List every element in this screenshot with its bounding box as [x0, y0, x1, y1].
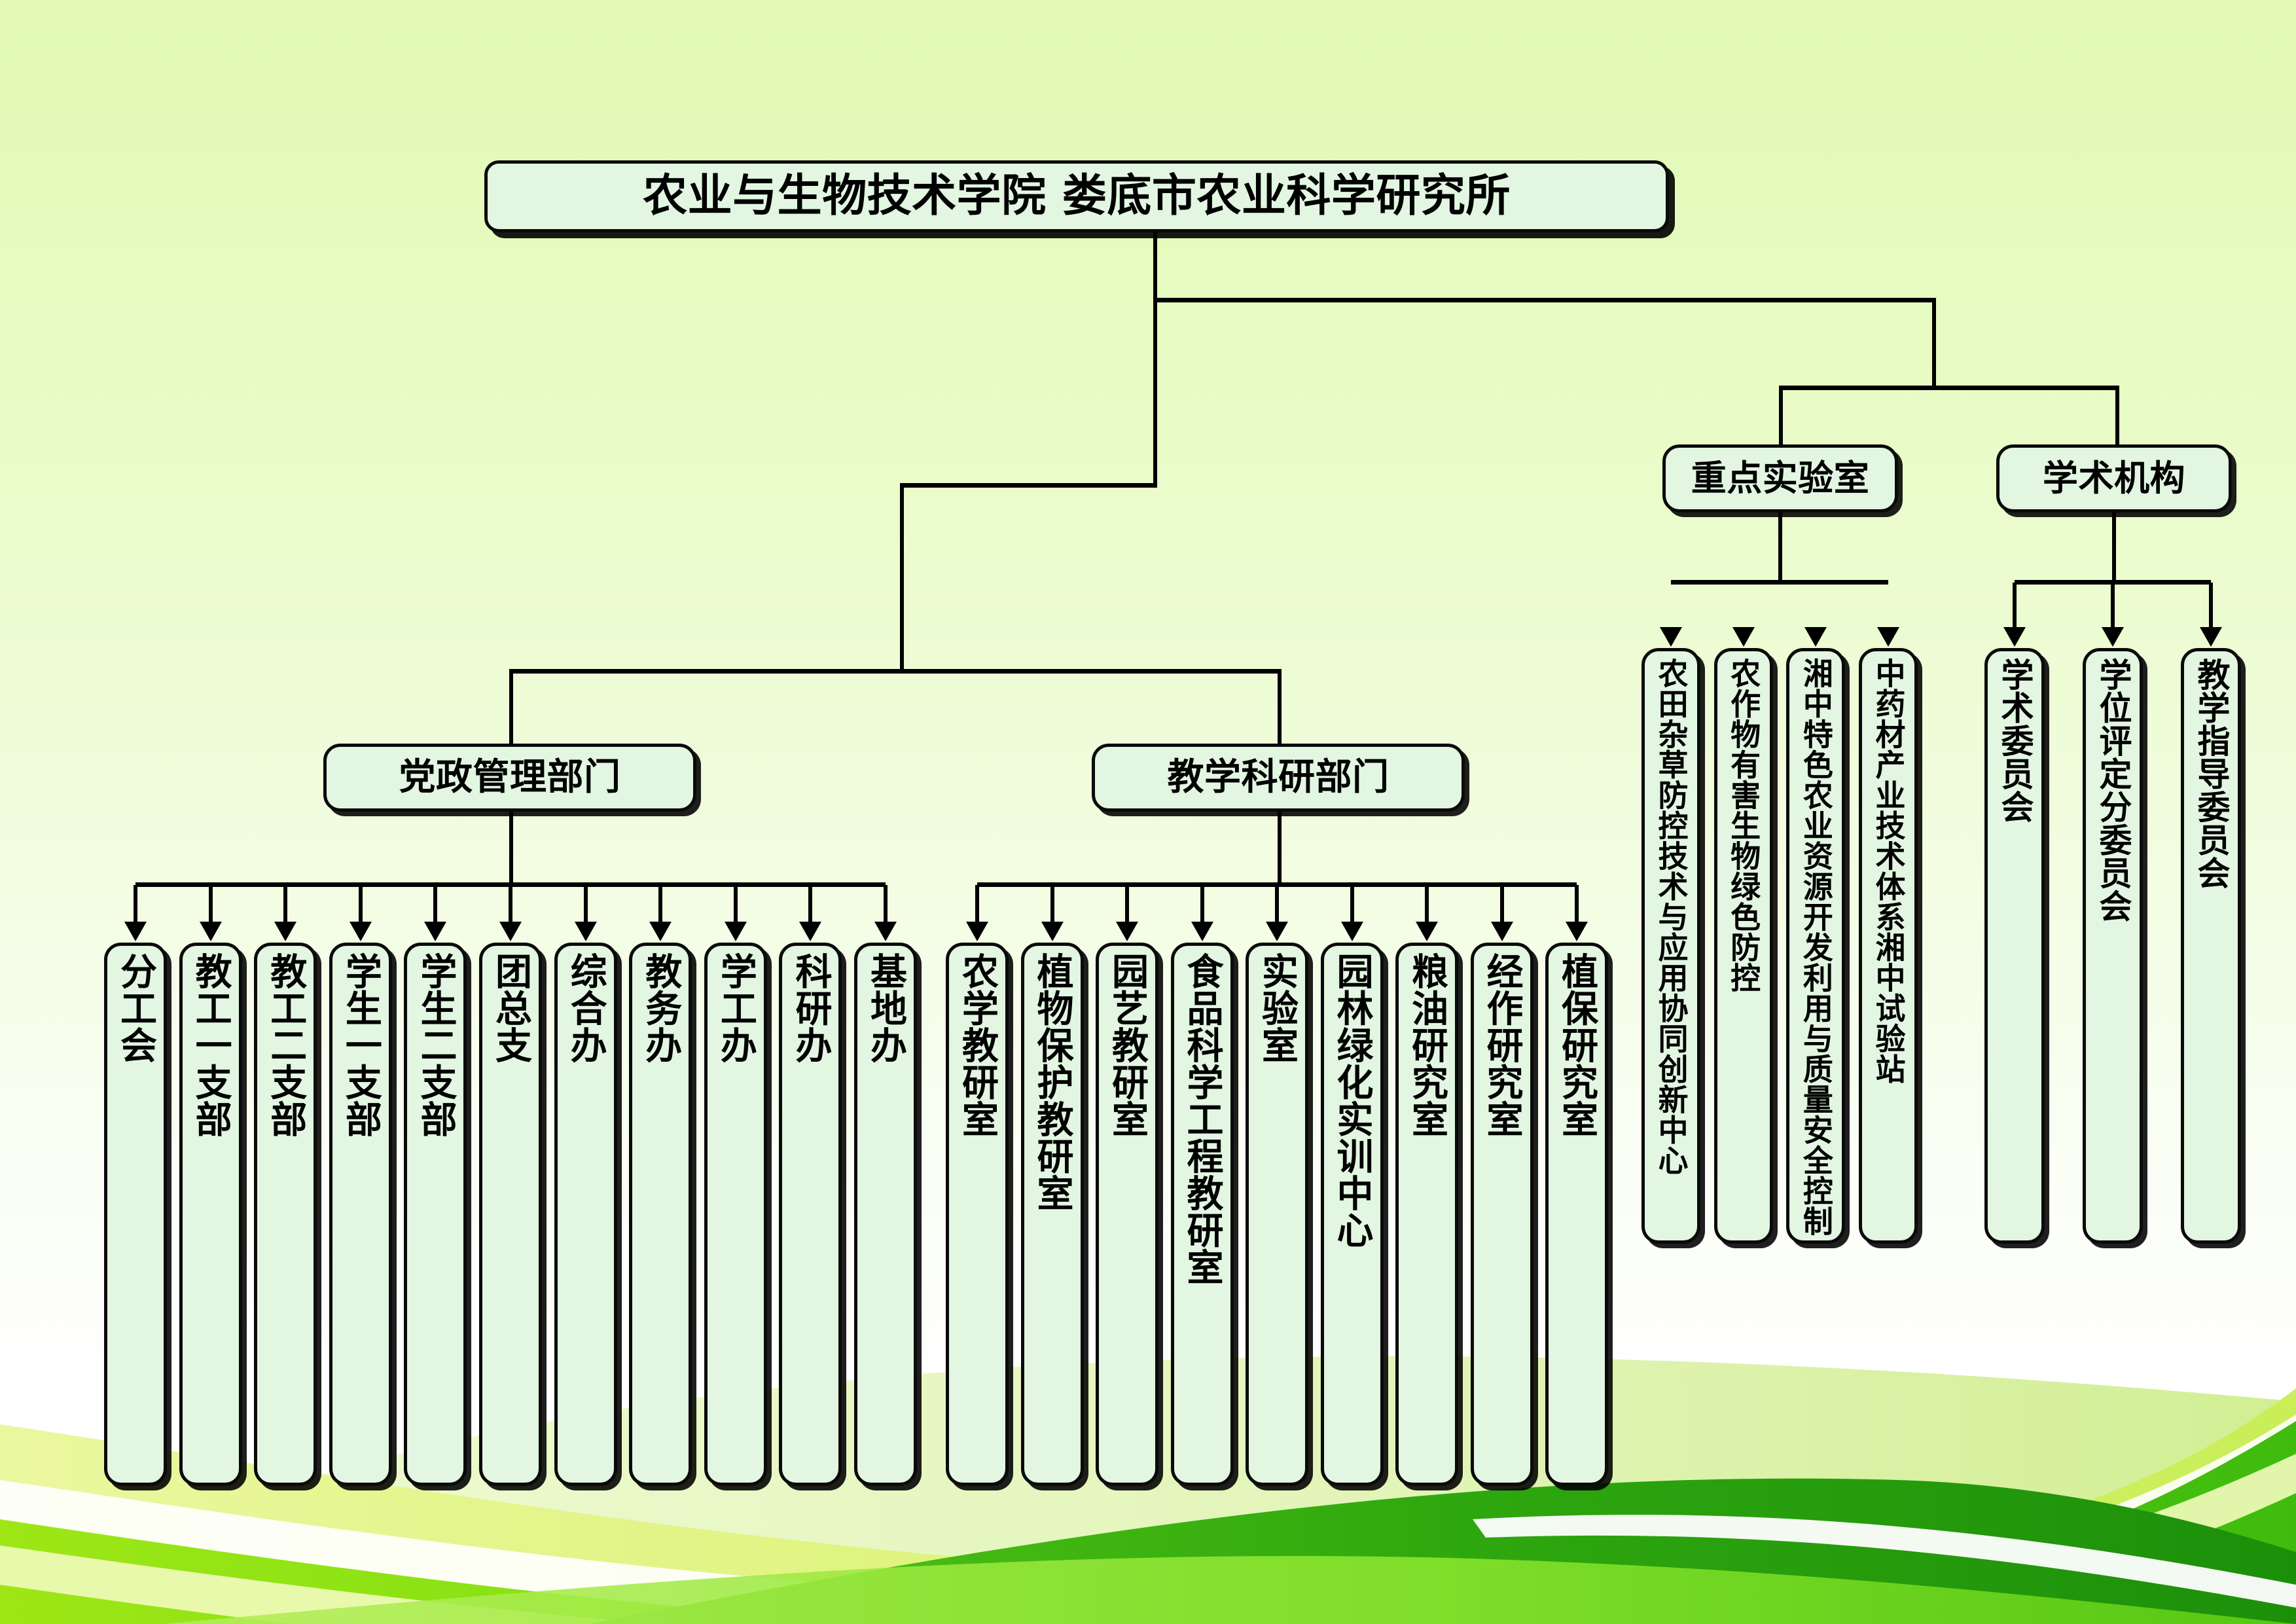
connector-drop-party-1	[209, 885, 213, 923]
connector-drop-teaching-8	[1575, 885, 1579, 923]
connector-drop-teaching-7	[1500, 885, 1504, 923]
arrow-icon-party-8	[725, 922, 747, 941]
connector-drop-teaching-3	[1200, 885, 1204, 923]
leaf-node-party-6[interactable]: 综合办	[554, 943, 617, 1486]
leaf-node-label: 学生一支部	[342, 952, 379, 1138]
arrow-icon-keylab-1	[1732, 627, 1755, 647]
leaf-node-teaching-4[interactable]: 实验室	[1246, 943, 1308, 1486]
arrow-icon-keylab-3	[1877, 627, 1899, 647]
arrow-icon-teaching-5	[1341, 922, 1363, 941]
connector-academic-drop	[2115, 386, 2119, 444]
leaf-node-party-9[interactable]: 科研办	[779, 943, 842, 1486]
leaf-node-label: 食品科学工程教研室	[1183, 952, 1221, 1286]
arrow-icon-academic-0	[2003, 627, 2026, 647]
connector-trunk-jog	[900, 483, 1157, 488]
connector-root-bus-right	[1153, 298, 1936, 302]
arrow-icon-party-5	[499, 922, 522, 941]
connector-drop-teaching-4	[1275, 885, 1279, 923]
leaf-node-label: 学工办	[717, 952, 754, 1064]
leaf-node-label: 教务办	[642, 952, 679, 1064]
connector-drop-party-5	[509, 885, 512, 923]
leaf-node-label: 实验室	[1258, 952, 1295, 1064]
connector-drop-party-0	[134, 885, 137, 923]
connector-drop-academic-1	[2111, 583, 2115, 628]
leaf-node-party-4[interactable]: 学生二支部	[404, 943, 467, 1486]
leaf-node-academic-1[interactable]: 学位评定分委员会	[2083, 648, 2143, 1244]
leaf-node-teaching-8[interactable]: 植保研究室	[1545, 943, 1608, 1486]
connector-mid-bus	[509, 669, 1282, 674]
group-label-teaching-research: 教学科研部门	[1168, 759, 1390, 796]
arrow-icon-teaching-7	[1491, 922, 1513, 941]
connector-root-trunk	[1153, 232, 1157, 301]
arrow-icon-party-3	[350, 922, 372, 941]
leaf-node-party-2[interactable]: 教工二支部	[254, 943, 317, 1486]
arrow-icon-teaching-1	[1041, 922, 1064, 941]
leaf-node-teaching-7[interactable]: 经作研究室	[1471, 943, 1534, 1486]
connector-trunk-mid	[900, 483, 904, 673]
connector-drop-party-8	[734, 885, 738, 923]
leaf-node-teaching-3[interactable]: 食品科学工程教研室	[1171, 943, 1234, 1486]
group-node-party-admin[interactable]: 党政管理部门	[323, 744, 696, 812]
leaf-node-keylab-3[interactable]: 中药材产业技术体系湘中试验站	[1859, 648, 1918, 1244]
connector-drop-academic-0	[2013, 583, 2017, 628]
leaf-node-party-5[interactable]: 团总支	[479, 943, 542, 1486]
arrow-icon-party-6	[575, 922, 597, 941]
leaf-node-label: 团总支	[492, 952, 529, 1064]
arrow-icon-keylab-2	[1804, 627, 1827, 647]
leaf-node-label: 经作研究室	[1483, 952, 1520, 1138]
connector-drop-party-6	[584, 885, 588, 923]
connector-drop-teaching-6	[1425, 885, 1429, 923]
leaf-node-teaching-6[interactable]: 粮油研究室	[1395, 943, 1458, 1486]
arrow-icon-teaching-2	[1116, 922, 1138, 941]
connector-keylab-drop	[1779, 386, 1783, 444]
leaf-node-label: 农田杂草防控技术与应用协同创新中心	[1656, 658, 1687, 1176]
leaf-node-label: 园林绿化实训中心	[1333, 952, 1371, 1248]
leaf-node-label: 农学教研室	[958, 952, 996, 1138]
leaf-node-label: 综合办	[567, 952, 604, 1064]
connector-keylab-stem	[1778, 513, 1782, 583]
connector-drop-party-3	[359, 885, 363, 923]
arrow-icon-party-9	[799, 922, 821, 941]
connector-drop-party-2	[283, 885, 287, 923]
arrow-icon-teaching-8	[1566, 922, 1588, 941]
leaf-node-party-0[interactable]: 分工会	[104, 943, 167, 1486]
connector-academic-stem	[2112, 513, 2116, 583]
connector-drop-party-7	[658, 885, 662, 923]
connector-drop-party-9	[808, 885, 812, 923]
leaf-node-label: 中药材产业技术体系湘中试验站	[1873, 658, 1904, 1084]
leaf-node-teaching-5[interactable]: 园林绿化实训中心	[1321, 943, 1384, 1486]
arrow-icon-teaching-4	[1266, 922, 1288, 941]
leaf-node-keylab-2[interactable]: 湘中特色农业资源开发利用与质量安全控制	[1786, 648, 1845, 1244]
connector-drop-teaching-5	[1350, 885, 1354, 923]
group-node-academic[interactable]: 学术机构	[1996, 444, 2232, 513]
leaf-node-label: 农作物有害生物绿色防控	[1728, 658, 1759, 993]
connector-drop-teaching-1	[1050, 885, 1054, 923]
connector-teaching-stem	[1278, 812, 1282, 886]
arrow-icon-party-10	[874, 922, 897, 941]
leaf-node-teaching-1[interactable]: 植物保护教研室	[1021, 943, 1084, 1486]
leaf-node-party-10[interactable]: 基地办	[854, 943, 917, 1486]
connector-drop-teaching-0	[975, 885, 979, 923]
leaf-node-label: 植物保护教研室	[1033, 952, 1071, 1212]
connector-root-trunk-lower	[1153, 298, 1157, 488]
arrow-icon-keylab-0	[1660, 627, 1682, 647]
leaf-node-teaching-2[interactable]: 园艺教研室	[1096, 943, 1158, 1486]
leaf-node-label: 学位评定分委员会	[2096, 658, 2130, 922]
leaf-node-label: 植保研究室	[1558, 952, 1595, 1138]
leaf-node-keylab-0[interactable]: 农田杂草防控技术与应用协同创新中心	[1641, 648, 1700, 1244]
leaf-node-label: 学生二支部	[417, 952, 454, 1138]
arrow-icon-party-2	[274, 922, 296, 941]
leaf-node-label: 教工一支部	[192, 952, 229, 1138]
group-label-academic: 学术机构	[2043, 460, 2185, 496]
leaf-node-label: 基地办	[867, 952, 904, 1064]
root-node-label: 农业与生物技术学院 娄底市农业科学研究所	[643, 173, 1511, 219]
leaf-node-party-1[interactable]: 教工一支部	[179, 943, 242, 1486]
connector-party-drop	[509, 669, 513, 748]
connector-lab-academic-bus	[1779, 386, 2119, 390]
arrow-icon-party-1	[200, 922, 222, 941]
leaf-node-label: 湘中特色农业资源开发利用与质量安全控制	[1801, 658, 1831, 1236]
leaf-node-label: 教工二支部	[267, 952, 304, 1138]
root-node[interactable]: 农业与生物技术学院 娄底市农业科学研究所	[484, 160, 1669, 232]
arrow-icon-teaching-3	[1191, 922, 1213, 941]
leaf-node-academic-2[interactable]: 教学指导委员会	[2181, 648, 2241, 1244]
arrow-icon-academic-1	[2102, 627, 2124, 647]
group-label-key-lab: 重点实验室	[1691, 460, 1870, 496]
arrow-icon-party-7	[649, 922, 672, 941]
leaf-node-label: 教学指导委员会	[2195, 658, 2228, 890]
connector-drop-teaching-2	[1125, 885, 1129, 923]
group-node-key-lab[interactable]: 重点实验室	[1662, 444, 1898, 513]
leaf-node-party-3[interactable]: 学生一支部	[329, 943, 392, 1486]
arrow-icon-teaching-0	[966, 922, 988, 941]
leaf-node-party-7[interactable]: 教务办	[629, 943, 692, 1486]
leaf-node-label: 学术委员会	[1998, 658, 2032, 823]
group-node-teaching-research[interactable]: 教学科研部门	[1092, 744, 1465, 812]
arrow-icon-party-0	[124, 922, 147, 941]
connector-drop-academic-2	[2209, 583, 2213, 628]
leaf-node-label: 分工会	[117, 952, 154, 1064]
leaf-node-label: 科研办	[792, 952, 829, 1064]
connector-party-stem	[509, 812, 513, 886]
leaf-node-teaching-0[interactable]: 农学教研室	[946, 943, 1009, 1486]
connector-teaching-drop	[1278, 669, 1282, 748]
connector-drop-party-4	[433, 885, 437, 923]
arrow-icon-teaching-6	[1416, 922, 1438, 941]
org-chart-canvas: 农业与生物技术学院 娄底市农业科学研究所 党政管理部门 教学科研部门 重点实验室…	[0, 0, 2296, 1624]
arrow-icon-academic-2	[2200, 627, 2222, 647]
leaf-node-label: 园艺教研室	[1108, 952, 1145, 1138]
connector-drop-party-10	[884, 885, 888, 923]
leaf-node-keylab-1[interactable]: 农作物有害生物绿色防控	[1714, 648, 1773, 1244]
group-label-party-admin: 党政管理部门	[399, 759, 621, 796]
leaf-node-label: 粮油研究室	[1408, 952, 1445, 1138]
connector-keylab-children-bus	[1671, 580, 1888, 585]
connector-to-lab-academic	[1932, 298, 1936, 389]
leaf-node-party-8[interactable]: 学工办	[704, 943, 767, 1486]
leaf-node-academic-0[interactable]: 学术委员会	[1984, 648, 2045, 1244]
arrow-icon-party-4	[424, 922, 446, 941]
